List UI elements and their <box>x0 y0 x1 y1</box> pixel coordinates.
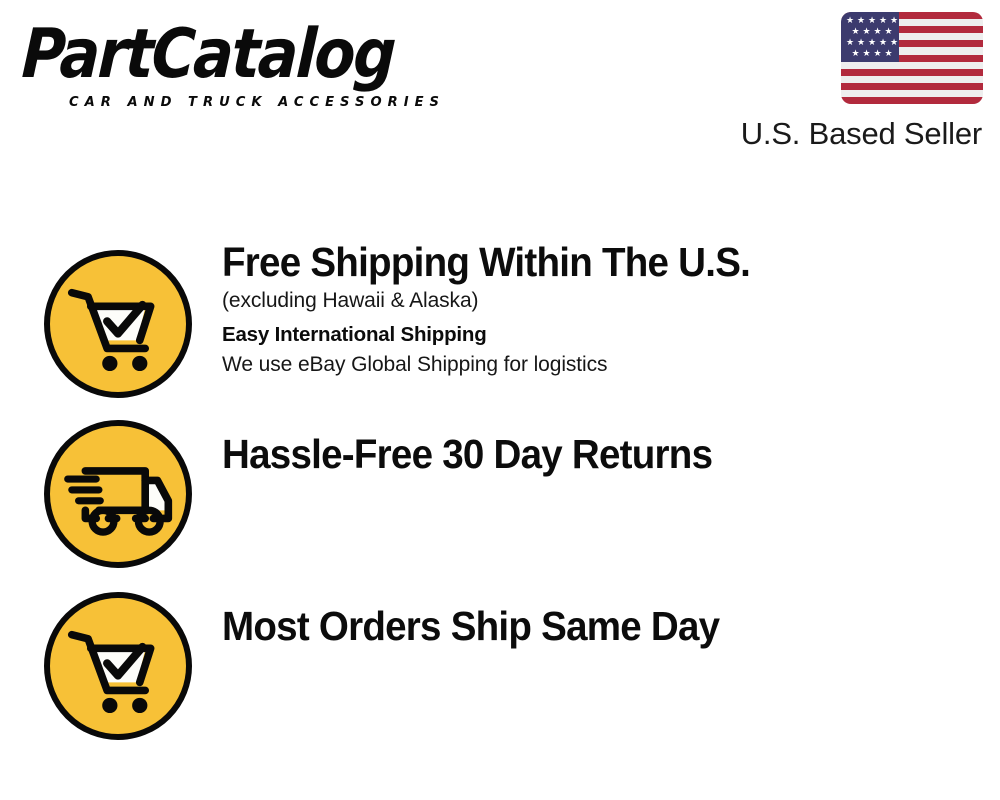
feature-title: Free Shipping Within The U.S. <box>222 238 936 286</box>
flag-star: ★ <box>857 17 865 26</box>
flag-star: ★ <box>852 28 860 37</box>
flag-star: ★ <box>863 28 871 37</box>
feature-row: Most Orders Ship Same Day <box>0 572 1000 742</box>
flag-star: ★ <box>863 50 871 59</box>
feature-text-block: Hassle-Free 30 Day Returns <box>222 430 982 478</box>
flag-star: ★ <box>879 39 887 48</box>
feature-subdetail: We use eBay Global Shipping for logistic… <box>222 350 982 380</box>
feature-title: Hassle-Free 30 Day Returns <box>222 430 936 478</box>
brand-tagline: CAR AND TRUCK ACCESSORIES <box>69 94 445 110</box>
feature-text-block: Free Shipping Within The U.S. (excluding… <box>222 238 982 380</box>
shopping-cart-check-icon <box>44 592 192 740</box>
flag-star: ★ <box>852 50 860 59</box>
flag-star: ★ <box>868 17 876 26</box>
feature-row: Hassle-Free 30 Day Returns <box>0 400 1000 570</box>
feature-subnote: (excluding Hawaii & Alaska) <box>222 286 982 316</box>
delivery-truck-icon <box>44 420 192 568</box>
flag-star: ★ <box>879 17 887 26</box>
us-based-seller-label: U.S. Based Seller <box>741 116 982 152</box>
flag-star: ★ <box>857 39 865 48</box>
feature-text-block: Most Orders Ship Same Day <box>222 602 982 650</box>
flag-star: ★ <box>890 17 898 26</box>
flag-stripe <box>841 69 983 76</box>
brand-logo[interactable]: PartCatalog CAR AND TRUCK ACCESSORIES <box>22 20 492 115</box>
flag-stripe <box>841 83 983 90</box>
us-flag-icon: ★ ★ ★ ★ ★ ★ ★ ★ ★ ★ ★ ★ ★ ★ ★ ★ ★ ★ <box>841 12 983 104</box>
feature-subheading: Easy International Shipping <box>222 320 982 350</box>
flag-star: ★ <box>846 17 854 26</box>
flag-star: ★ <box>868 39 876 48</box>
us-based-seller-badge: ★ ★ ★ ★ ★ ★ ★ ★ ★ ★ ★ ★ ★ ★ ★ ★ ★ ★ U.S.… <box>710 8 990 158</box>
feature-title: Most Orders Ship Same Day <box>222 602 936 650</box>
flag-star: ★ <box>885 50 893 59</box>
flag-stripe <box>841 97 983 104</box>
flag-star: ★ <box>874 50 882 59</box>
shopping-cart-check-icon <box>44 250 192 398</box>
flag-star: ★ <box>890 39 898 48</box>
brand-wordmark: PartCatalog <box>20 18 395 92</box>
flag-star: ★ <box>846 39 854 48</box>
flag-star: ★ <box>885 28 893 37</box>
page-header: PartCatalog CAR AND TRUCK ACCESSORIES ★ … <box>0 0 1000 175</box>
flag-star: ★ <box>874 28 882 37</box>
feature-row: Free Shipping Within The U.S. (excluding… <box>0 230 1000 420</box>
